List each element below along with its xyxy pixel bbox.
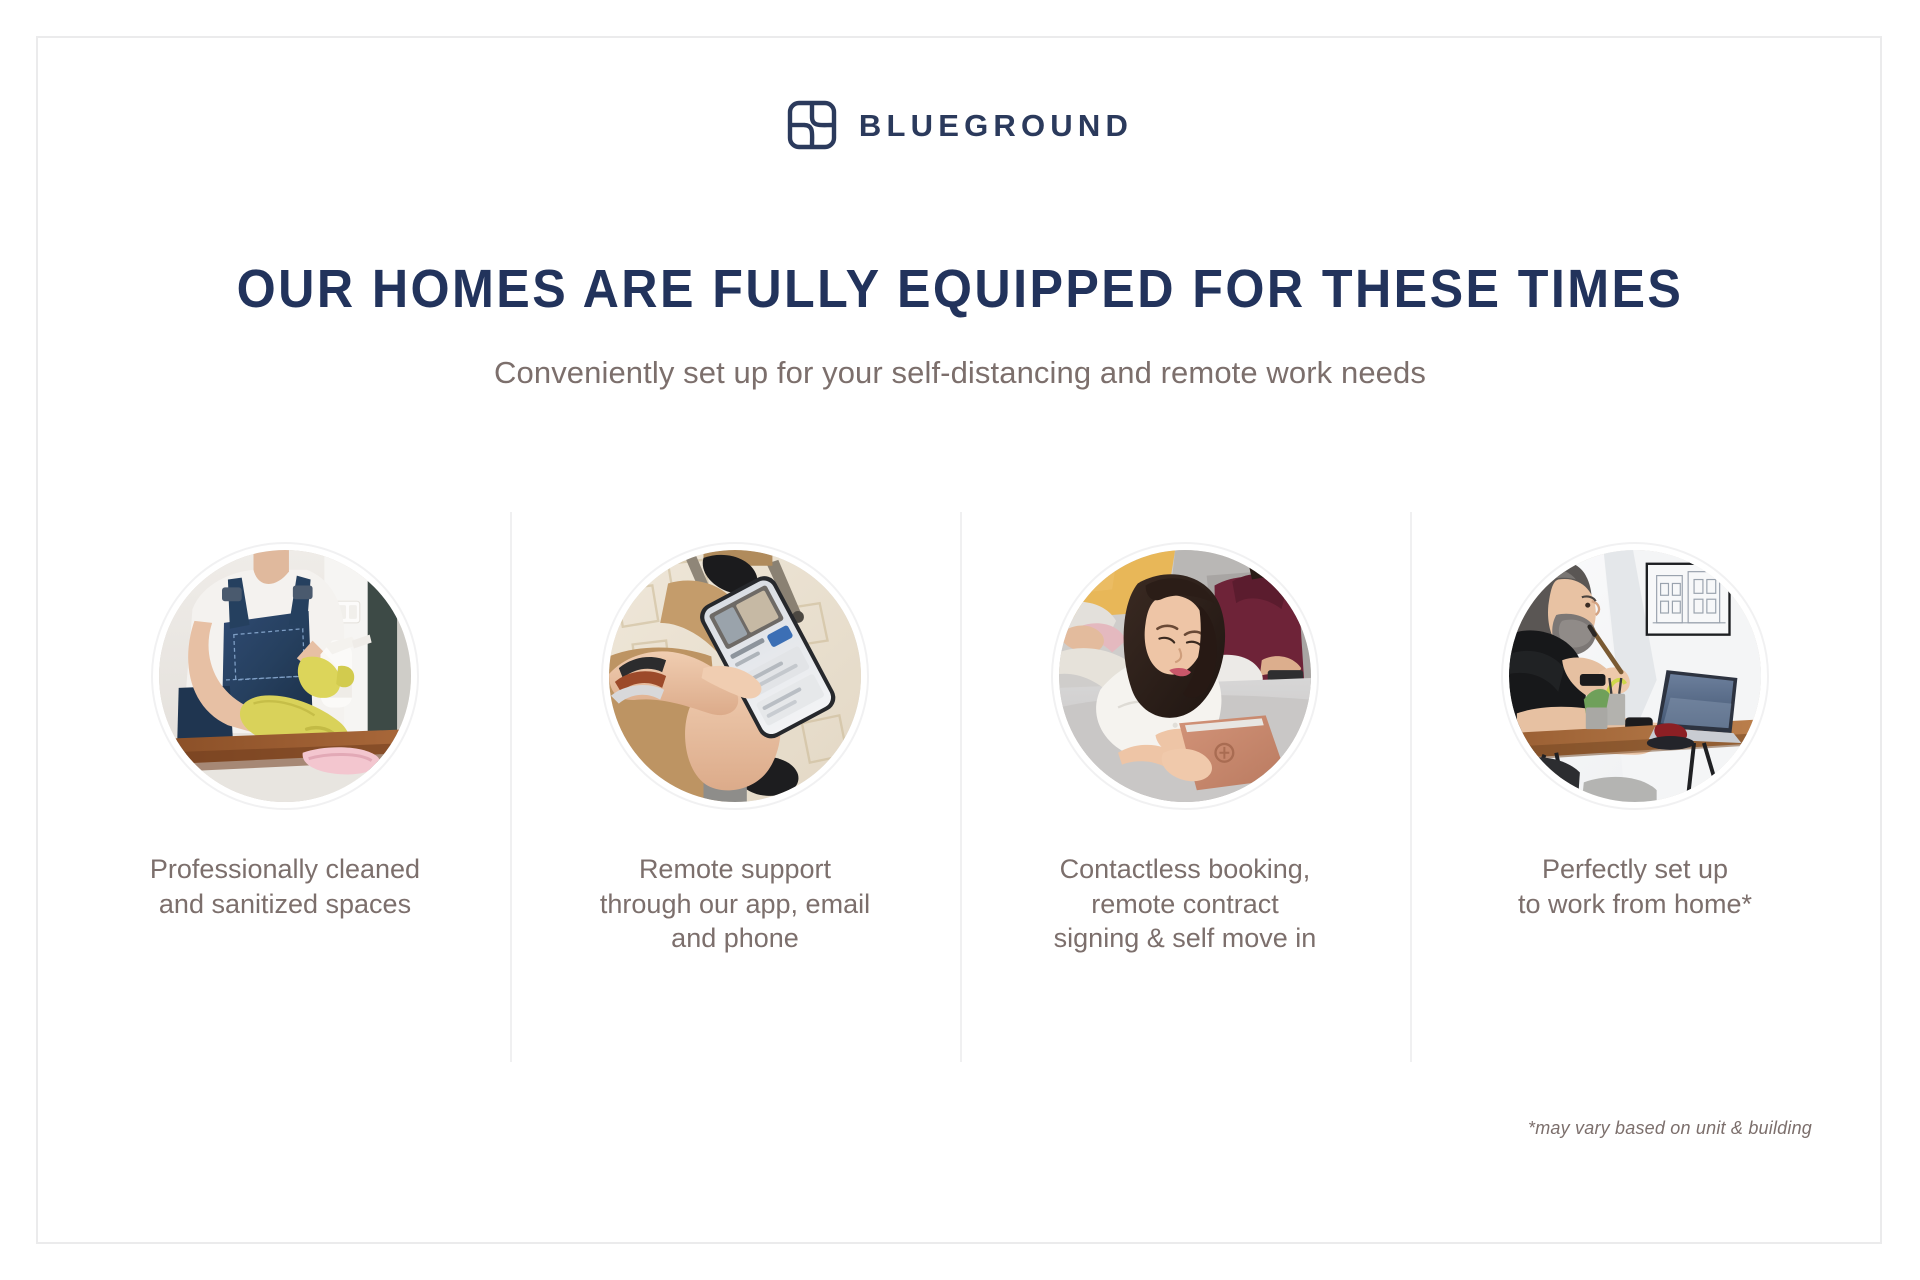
feature-caption: Remote support through our app, email an… [590,852,880,956]
feature-caption: Contactless booking, remote contract sig… [1044,852,1327,956]
feature-photo-ring [601,542,869,810]
caption-line: to work from home* [1518,887,1752,922]
cleaning-person-photo [159,550,411,802]
feature-photo-ring [1051,542,1319,810]
caption-line: Perfectly set up [1518,852,1752,887]
brand-lockup: BLUEGROUND [0,100,1920,150]
feature-photo-ring [151,542,419,810]
feature-photo-ring [1501,542,1769,810]
caption-line: Professionally cleaned [150,852,420,887]
woman-with-tablet-photo [1059,550,1311,802]
feature-column-contactless-booking: Contactless booking, remote contract sig… [960,512,1410,1062]
feature-column-cleaning: Professionally cleaned and sanitized spa… [60,512,510,1062]
page-title: OUR HOMES ARE FULLY EQUIPPED FOR THESE T… [67,258,1853,320]
man-working-at-desk-photo [1509,550,1761,802]
poster-page: BLUEGROUND OUR HOMES ARE FULLY EQUIPPED … [0,0,1920,1280]
caption-line: remote contract [1054,887,1317,922]
caption-line: Remote support [600,852,870,887]
caption-line: signing & self move in [1054,921,1317,956]
feature-column-remote-support: Remote support through our app, email an… [510,512,960,1062]
caption-line: and sanitized spaces [150,887,420,922]
caption-line: Contactless booking, [1054,852,1317,887]
footnote-disclaimer: *may vary based on unit & building [1528,1118,1812,1139]
smartphone-in-hands-photo [609,550,861,802]
feature-columns: Professionally cleaned and sanitized spa… [60,512,1860,1062]
blueground-square-logo-icon [787,100,837,150]
page-subtitle: Conveniently set up for your self-distan… [0,355,1920,391]
feature-column-work-from-home: Perfectly set up to work from home* [1410,512,1860,1062]
brand-wordmark: BLUEGROUND [859,110,1133,141]
caption-line: and phone [600,921,870,956]
feature-caption: Professionally cleaned and sanitized spa… [140,852,430,921]
caption-line: through our app, email [600,887,870,922]
feature-caption: Perfectly set up to work from home* [1508,852,1762,921]
